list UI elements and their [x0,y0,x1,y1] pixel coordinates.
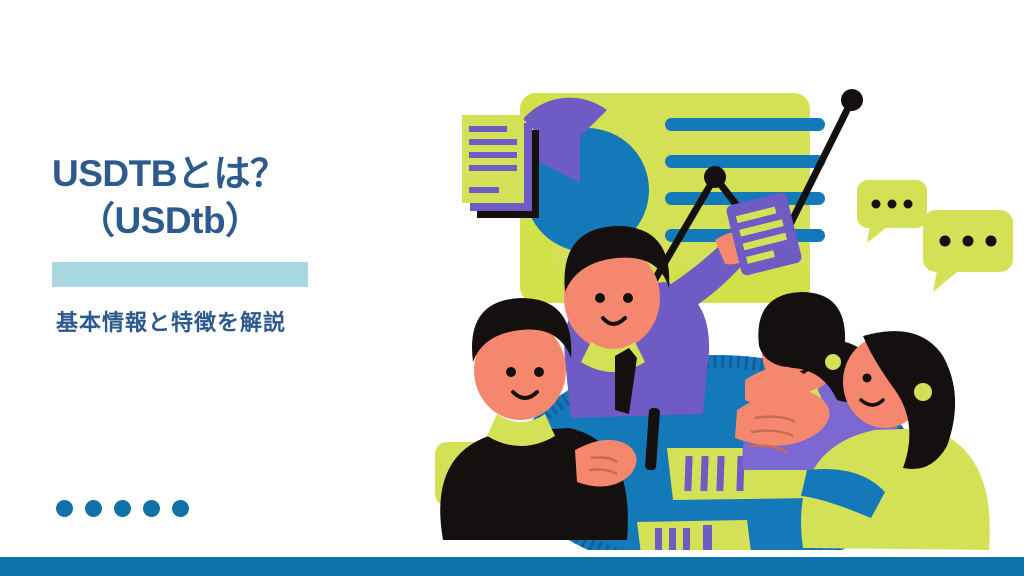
speech-bubble-large [923,210,1013,292]
decorative-dots [56,500,189,517]
page-title: USDTBとは？（USDtb） [52,150,432,245]
subtitle: 基本情報と特徴を解説 [56,305,286,337]
dot-2 [85,500,102,517]
dot-3 [114,500,131,517]
dot-4 [143,500,160,517]
slide-root: USDTBとは？（USDtb） 基本情報と特徴を解説 [0,0,1024,576]
paper-sheet-2 [637,520,753,550]
accent-divider-bar [52,262,308,287]
title-block: USDTBとは？（USDtb） [52,150,432,245]
title-line-2: （USDtb） [52,197,432,244]
dot-5 [172,500,189,517]
title-line-1: USDTBとは？ [52,153,286,194]
meeting-illustration [415,70,1024,550]
speech-bubble-small [857,180,927,243]
document-stack [462,115,539,218]
footer-bar [0,557,1024,576]
dot-1 [56,500,73,517]
